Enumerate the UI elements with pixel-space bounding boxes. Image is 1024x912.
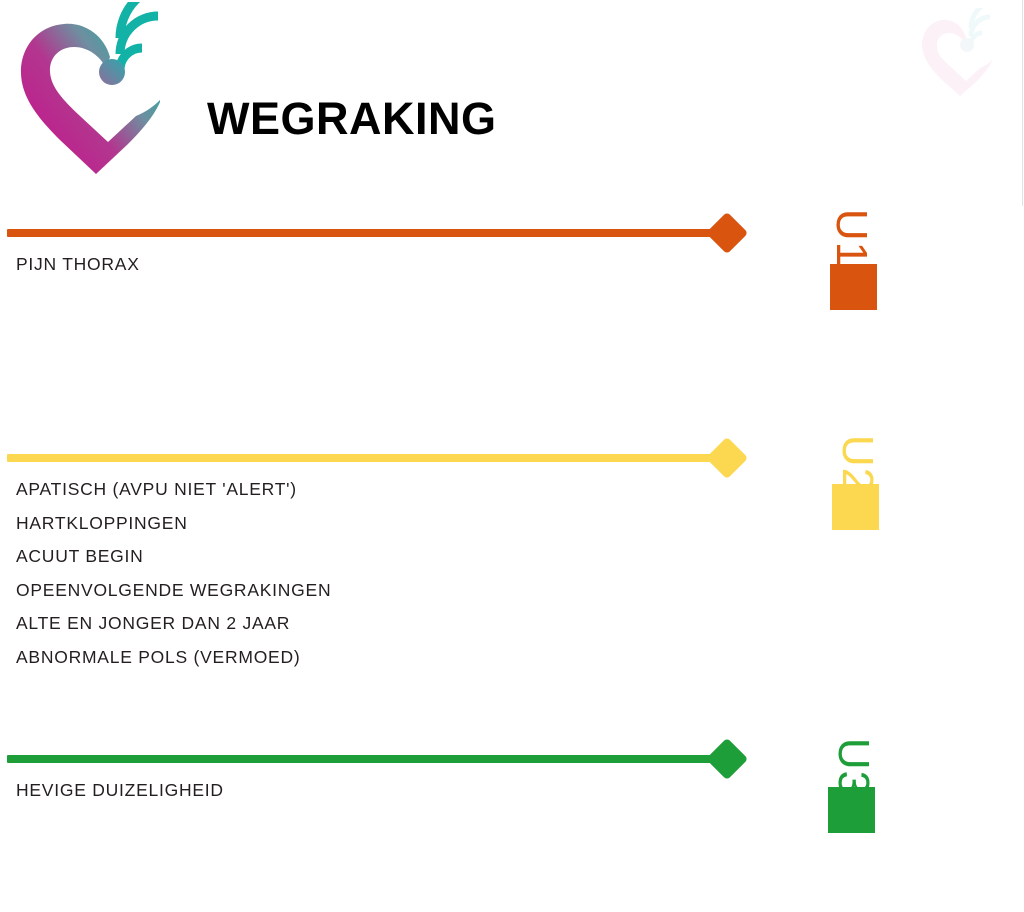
- level-badge-u1: U1: [820, 207, 916, 317]
- watermark: TRIAGECRITERIA: [920, 0, 1024, 210]
- level-color-swatch: [828, 787, 875, 833]
- list-item: OPEENVOLGENDE WEGRAKINGEN: [16, 574, 736, 608]
- level-color-swatch: [830, 264, 877, 310]
- page-title: WEGRAKING: [207, 96, 497, 141]
- level-badge-u3: U3: [822, 736, 918, 846]
- list-item: HARTKLOPPINGEN: [16, 507, 736, 541]
- list-item: PIJN THORAX: [16, 248, 736, 282]
- brand-logo-icon: [8, 2, 188, 178]
- arrow-line: [7, 755, 721, 763]
- criteria-list-u3: HEVIGE DUIZELIGHEID: [16, 774, 736, 808]
- level-color-swatch: [832, 484, 879, 530]
- criteria-list-u2: APATISCH (AVPU NIET 'ALERT') HARTKLOPPIN…: [16, 473, 736, 674]
- list-item: ALTE EN JONGER DAN 2 JAAR: [16, 607, 736, 641]
- watermark-logo-icon: [922, 8, 994, 96]
- triage-criteria-page: WEGRAKING TRIAGECRITERIA PIJN THORAX: [0, 0, 1024, 912]
- criteria-list-u1: PIJN THORAX: [16, 248, 736, 282]
- arrow-line: [7, 454, 721, 462]
- severity-arrow-u1: [7, 213, 752, 253]
- level-code-label: U1: [820, 207, 882, 269]
- arrow-line: [7, 229, 721, 237]
- list-item: ACUUT BEGIN: [16, 540, 736, 574]
- level-badge-u2: U2: [826, 433, 922, 543]
- severity-arrow-u2: [7, 438, 752, 478]
- watermark-divider: [1022, 0, 1023, 206]
- severity-arrow-u3: [7, 739, 752, 779]
- list-item: ABNORMALE POLS (VERMOED): [16, 641, 736, 675]
- list-item: APATISCH (AVPU NIET 'ALERT'): [16, 473, 736, 507]
- list-item: HEVIGE DUIZELIGHEID: [16, 774, 736, 808]
